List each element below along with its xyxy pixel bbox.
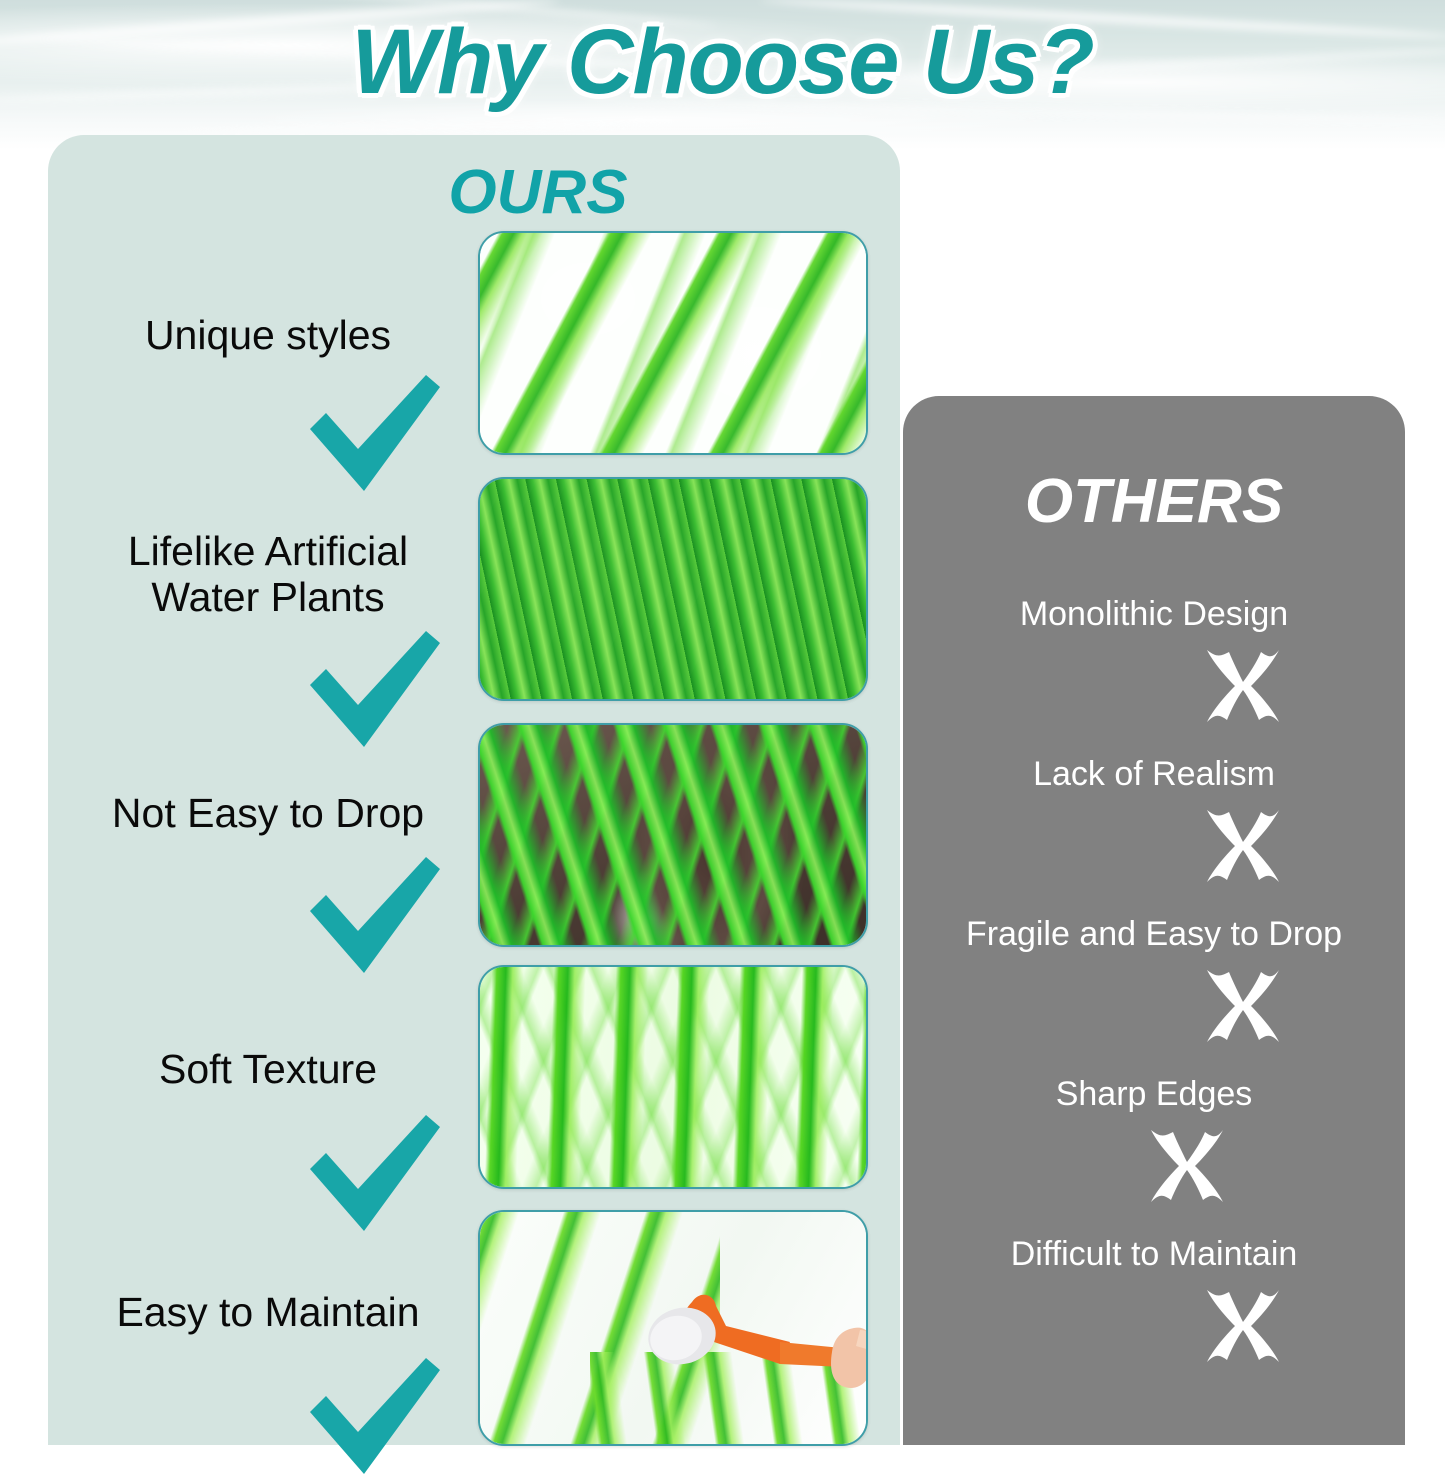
others-item-label: Fragile and Easy to Drop (903, 916, 1405, 953)
ours-item-label: Easy to Maintain (58, 1290, 478, 1336)
others-item-lack-of-realism: Lack of Realism (903, 756, 1405, 916)
ours-heading: OURS (348, 157, 728, 228)
check-icon (306, 1356, 442, 1476)
others-item-difficult-to-maintain: Difficult to Maintain (903, 1236, 1405, 1396)
plant-photo-diagonal-rows (480, 233, 866, 453)
x-mark-icon (1199, 964, 1283, 1048)
check-icon (306, 373, 442, 493)
cleaning-brush-and-hand-icon (630, 1280, 868, 1400)
plant-photo-ceramic-base (480, 725, 866, 945)
others-panel: OTHERS Monolithic Design Lack of Realism… (903, 396, 1405, 1445)
ours-item-label: Soft Texture (58, 1047, 478, 1093)
ours-item-image (478, 723, 868, 947)
others-item-label: Lack of Realism (903, 756, 1405, 793)
ours-item-image (478, 231, 868, 455)
plant-photo-brush-cleaning (480, 1212, 866, 1444)
plant-photo-vertical-rows (480, 967, 866, 1187)
x-mark-icon (1199, 1284, 1283, 1368)
others-item-label: Monolithic Design (903, 596, 1405, 633)
ours-item-label: Not Easy to Drop (58, 791, 478, 837)
others-item-label: Difficult to Maintain (903, 1236, 1405, 1273)
others-item-label: Sharp Edges (903, 1076, 1405, 1113)
ours-item-label: Unique styles (58, 313, 478, 359)
x-mark-icon (1143, 1124, 1227, 1208)
ours-item-image (478, 1210, 868, 1446)
x-mark-icon (1199, 644, 1283, 728)
plant-photo-dense-fronds (480, 479, 866, 699)
ours-panel: OURS Unique styles Lifelike Artificial W… (48, 135, 900, 1445)
others-item-fragile-easy-to-drop: Fragile and Easy to Drop (903, 916, 1405, 1076)
x-mark-icon (1199, 804, 1283, 888)
ours-item-unique-styles: Unique styles (48, 231, 900, 461)
ours-item-soft-texture: Soft Texture (48, 965, 900, 1200)
water-streak (180, 120, 680, 135)
ours-item-label: Lifelike Artificial Water Plants (58, 529, 478, 621)
ours-item-easy-to-maintain: Easy to Maintain (48, 1210, 900, 1445)
ours-item-not-easy-to-drop: Not Easy to Drop (48, 723, 900, 953)
check-icon (306, 855, 442, 975)
others-item-sharp-edges: Sharp Edges (903, 1076, 1405, 1236)
others-heading: OTHERS (903, 466, 1405, 537)
ours-item-lifelike: Lifelike Artificial Water Plants (48, 477, 900, 707)
ours-item-image (478, 965, 868, 1189)
others-item-monolithic-design: Monolithic Design (903, 596, 1405, 756)
page-title: Why Choose Us? (0, 10, 1445, 115)
ours-item-image (478, 477, 868, 701)
